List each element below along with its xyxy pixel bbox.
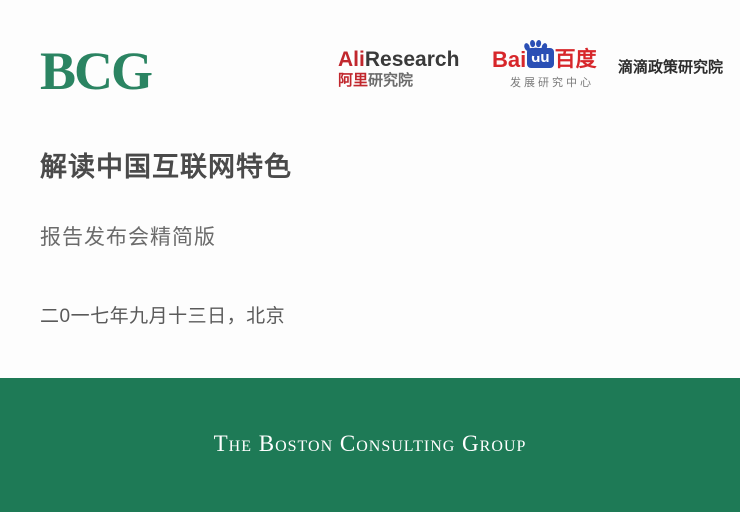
aliresearch-institute-cn-text: 研究院 [368,72,413,89]
baidu-research-center-text: 发展研究中心 [492,76,612,90]
baidu-bai-text: Bai [492,47,526,72]
aliresearch-chinese-name: 阿里研究院 [338,72,478,89]
paw-print-icon [523,40,549,56]
date-location-text: 二0一七年九月十三日，北京 [40,304,470,330]
didi-policy-institute-logo: 滴滴政策研究院 [618,58,723,78]
aliresearch-research-text: Research [365,48,460,71]
baidu-wordmark: Baidu百度 [492,46,612,74]
baidu-logo: Baidu百度 发展研究中心 [492,46,612,90]
aliresearch-ali-text: Ali [338,48,365,71]
page-subtitle: 报告发布会精简版 [40,224,470,252]
aliresearch-latin-name: AliResearch [338,48,478,71]
baidu-chinese-name: 百度 [555,48,597,71]
aliresearch-logo: AliResearch 阿里研究院 [338,48,478,89]
title-slide: BCG AliResearch 阿里研究院 Baidu百度 发展研究中心 [0,0,740,512]
title-block: 解读中国互联网特色 报告发布会精简版 二0一七年九月十三日，北京 [40,150,470,330]
bcg-logo: BCG [40,44,151,98]
aliresearch-alibaba-cn-text: 阿里 [338,72,368,89]
bcg-full-name-text: The Boston Consulting Group [0,430,740,458]
logo-row: BCG AliResearch 阿里研究院 Baidu百度 发展研究中心 [0,0,740,120]
page-title: 解读中国互联网特色 [40,150,470,184]
footer-band: The Boston Consulting Group [0,378,740,512]
